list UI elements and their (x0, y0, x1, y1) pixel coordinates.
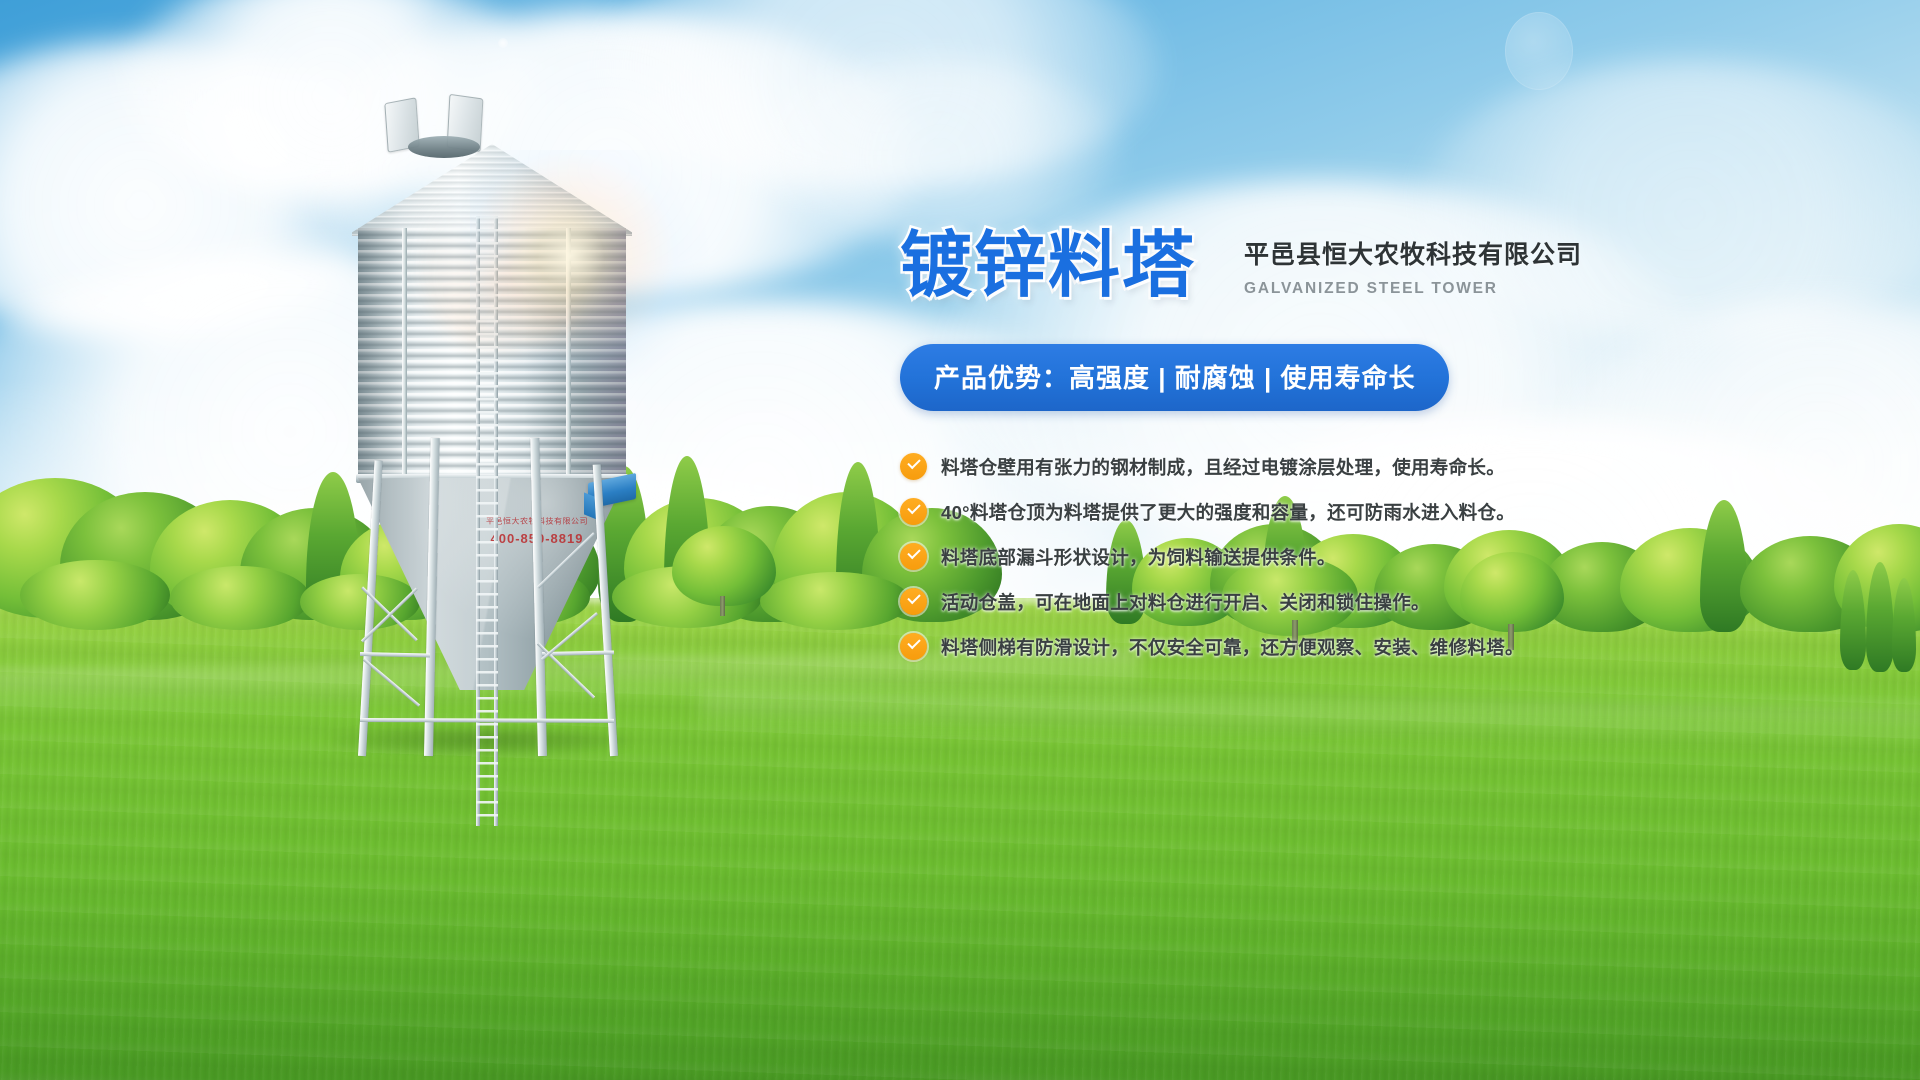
check-circle-icon (900, 543, 927, 570)
bush (170, 566, 310, 630)
silo-support-legs (352, 426, 632, 756)
title-row: 镀锌料塔 平邑县恒大农牧科技有限公司 GALVANIZED STEEL TOWE… (900, 230, 1540, 302)
banner-stage: 平邑恒大农牧科技有限公司 400-850-8819 (0, 0, 1920, 1080)
support-leg (593, 464, 618, 756)
feature-text: 活动仓盖，可在地面上对料仓进行开启、关闭和锁住操作。 (941, 589, 1430, 615)
company-name-english: GALVANIZED STEEL TOWER (1244, 280, 1582, 298)
support-leg (424, 438, 440, 756)
feature-text: 40°料塔仓顶为料塔提供了更大的强度和容量，还可防雨水进入料仓。 (941, 499, 1515, 525)
lens-flare-ring (418, 176, 594, 352)
list-item: 料塔底部漏斗形状设计，为饲料输送提供条件。 (900, 543, 1540, 570)
feature-text: 料塔底部漏斗形状设计，为饲料输送提供条件。 (941, 544, 1336, 570)
check-circle-icon (900, 633, 927, 660)
support-leg (530, 438, 547, 756)
check-circle-icon (900, 453, 927, 480)
list-item: 料塔侧梯有防滑设计，不仅安全可靠，还方便观察、安装、维修料塔。 (900, 633, 1540, 660)
list-item: 料塔仓壁用有张力的钢材制成，且经过电镀涂层处理，使用寿命长。 (900, 453, 1540, 480)
leg-brace (360, 718, 614, 723)
feature-text: 料塔仓壁用有张力的钢材制成，且经过电镀涂层处理，使用寿命长。 (941, 454, 1505, 480)
cross-brace (537, 532, 595, 588)
check-circle-icon (900, 588, 927, 615)
company-block: 平邑县恒大农牧科技有限公司 GALVANIZED STEEL TOWER (1244, 235, 1582, 302)
cross-brace (363, 658, 420, 707)
feature-text: 料塔侧梯有防滑设计，不仅安全可靠，还方便观察、安装、维修料塔。 (941, 634, 1524, 660)
product-advantage-badge: 产品优势：高强度 | 耐腐蚀 | 使用寿命长 (900, 344, 1449, 411)
page-title: 镀锌料塔 (900, 230, 1196, 302)
list-item: 40°料塔仓顶为料塔提供了更大的强度和容量，还可防雨水进入料仓。 (900, 498, 1540, 525)
tree-trunk (720, 596, 725, 616)
bush (20, 560, 170, 630)
support-leg (358, 460, 383, 756)
banner-content: 镀锌料塔 平邑县恒大农牧科技有限公司 GALVANIZED STEEL TOWE… (900, 230, 1540, 678)
feature-list: 料塔仓壁用有张力的钢材制成，且经过电镀涂层处理，使用寿命长。 40°料塔仓顶为料… (900, 453, 1540, 660)
list-item: 活动仓盖，可在地面上对料仓进行开启、关闭和锁住操作。 (900, 588, 1540, 615)
bush (760, 572, 910, 630)
conifer-tree (1700, 500, 1748, 632)
company-name: 平邑县恒大农牧科技有限公司 (1244, 235, 1582, 271)
check-circle-icon (900, 498, 927, 525)
